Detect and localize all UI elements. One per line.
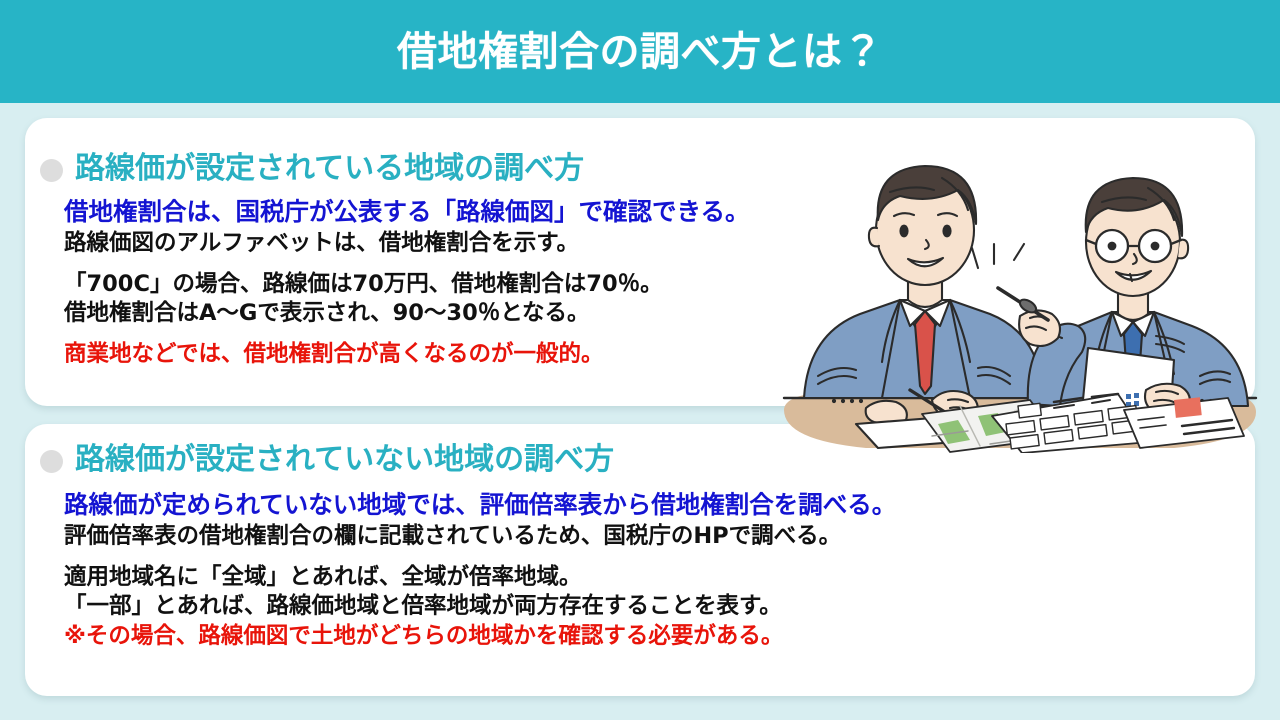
block-1-heading: 路線価が設定されている地域の調べ方: [75, 152, 584, 185]
page-title: 借地権割合の調べ方とは？: [397, 32, 883, 72]
block-2-line-2: 評価倍率表の借地権割合の欄に記載されているため、国税庁のHPで調べる。: [64, 522, 896, 552]
block-2-heading-row: 路線価が設定されていない地域の調べ方: [40, 443, 614, 476]
filled-circle-icon: [40, 450, 63, 473]
block-1-line-1: 借地権割合は、国税庁が公表する「路線価図」で確認できる。: [64, 196, 750, 229]
block-1-heading-row: 路線価が設定されている地域の調べ方: [40, 152, 584, 185]
block-2-body: 路線価が定められていない地域では、評価倍率表から借地権割合を調べる。 評価倍率表…: [64, 489, 896, 652]
block-1-line-5: 商業地などでは、借地権割合が高くなるのが一般的。: [64, 340, 750, 370]
block-1-body: 借地権割合は、国税庁が公表する「路線価図」で確認できる。 路線価図のアルファベッ…: [64, 196, 750, 370]
block-2-line-5: ※その場合、路線価図で土地がどちらの地域かを確認する必要がある。: [64, 622, 896, 652]
block-2-heading: 路線価が設定されていない地域の調べ方: [75, 443, 614, 476]
block-1-line-2: 路線価図のアルファベットは、借地権割合を示す。: [64, 229, 750, 259]
header-band: 借地権割合の調べ方とは？: [0, 0, 1280, 103]
block-2-line-1: 路線価が定められていない地域では、評価倍率表から借地権割合を調べる。: [64, 489, 896, 522]
block-2-line-4: 「一部」とあれば、路線価地域と倍率地域が両方存在することを表す。: [64, 592, 896, 622]
block-1-line-4: 借地権割合はA〜Gで表示され、90〜30％となる。: [64, 299, 750, 329]
block-2-line-3: 適用地域名に「全域」とあれば、全域が倍率地域。: [64, 563, 896, 593]
filled-circle-icon: [40, 159, 63, 182]
block-1-line-3: 「700C」の場合、路線価は70万円、借地権割合は70％。: [64, 270, 750, 300]
